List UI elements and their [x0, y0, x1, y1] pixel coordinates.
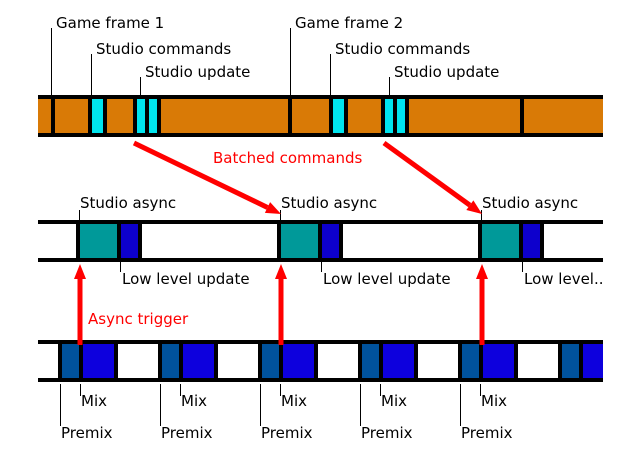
diagram-canvas: Game frame 1Studio commandsStudio update… [0, 0, 640, 467]
segment-divider [88, 99, 92, 133]
segment-lowlvl [523, 224, 540, 258]
game-thread-track [38, 95, 603, 137]
leader-line-low-level-update-2 [522, 262, 523, 272]
segment-frame [292, 99, 329, 133]
segment-divider [344, 99, 348, 133]
segment-divider [478, 224, 482, 258]
segment-divider [379, 344, 383, 378]
segment-divider [117, 224, 121, 258]
segment-mix [183, 344, 214, 378]
segment-divider [138, 224, 142, 258]
label-premix-1: Premix [161, 426, 213, 441]
segment-premix [262, 344, 279, 378]
async-trigger-annotation: Async trigger [88, 312, 188, 327]
label-studio-async-2: Studio async [482, 196, 578, 211]
leader-line-3 [290, 28, 291, 95]
segment-divider [329, 99, 333, 133]
leader-line-4 [330, 54, 331, 95]
segment-premix [462, 344, 479, 378]
segment-divider [279, 344, 283, 378]
leader-line-mix-4 [480, 384, 481, 396]
segment-divider [318, 224, 322, 258]
segment-premix [162, 344, 179, 378]
segment-async [482, 224, 520, 258]
label-studio-commands-1: Studio commands [96, 42, 231, 57]
label-low-level-update-1: Low level update [323, 272, 451, 287]
segment-divider [479, 344, 483, 378]
batched-commands-annotation: Batched commands [213, 151, 362, 166]
leader-line-mix-3 [380, 384, 381, 396]
segment-lowlvl [322, 224, 339, 258]
segment-divider [519, 224, 523, 258]
leader-line-studio-async-1 [280, 210, 281, 220]
segment-divider [258, 344, 262, 378]
segment-command [385, 99, 393, 133]
leader-line-low-level-update-0 [120, 262, 121, 272]
segment-frame [348, 99, 381, 133]
segment-divider [103, 99, 107, 133]
segment-command [397, 99, 405, 133]
segment-divider [579, 344, 583, 378]
segment-frame [524, 99, 603, 133]
label-studio-commands-4: Studio commands [335, 42, 470, 57]
segment-mix [583, 344, 603, 378]
segment-async [80, 224, 118, 258]
segment-mix [83, 344, 114, 378]
segment-command [333, 99, 344, 133]
segment-divider [540, 224, 544, 258]
label-studio-update-5: Studio update [394, 65, 499, 80]
leader-line-mix-2 [280, 384, 281, 396]
segment-divider [58, 344, 62, 378]
segment-divider [214, 344, 218, 378]
segment-divider [158, 344, 162, 378]
studio-thread-track [38, 220, 603, 262]
label-game-frame-1-0: Game frame 1 [56, 16, 164, 31]
segment-divider [114, 344, 118, 378]
segment-divider [393, 99, 397, 133]
leader-line-studio-async-2 [481, 210, 482, 220]
leader-line-premix-0 [60, 384, 61, 426]
segment-divider [79, 344, 83, 378]
leader-line-low-level-update-1 [321, 262, 322, 272]
segment-command [137, 99, 145, 133]
segment-frame [38, 99, 51, 133]
label-game-frame-2-3: Game frame 2 [295, 16, 403, 31]
leader-line-mix-0 [80, 384, 81, 396]
segment-divider [314, 344, 318, 378]
label-mix-3: Mix [381, 394, 407, 409]
async-trigger-arrow-1-head [275, 264, 287, 279]
label-premix-2: Premix [261, 426, 313, 441]
label-studio-async-0: Studio async [80, 196, 176, 211]
leader-line-2 [140, 77, 141, 95]
segment-mix [283, 344, 314, 378]
label-studio-async-1: Studio async [281, 196, 377, 211]
mixer-thread-track [38, 340, 603, 382]
segment-frame [107, 99, 133, 133]
leader-line-premix-1 [160, 384, 161, 426]
async-trigger-arrow-2-head [476, 264, 488, 279]
leader-line-0 [51, 28, 52, 95]
segment-divider [405, 99, 409, 133]
leader-line-1 [91, 54, 92, 95]
segment-async [281, 224, 319, 258]
segment-divider [458, 344, 462, 378]
segment-divider [76, 224, 80, 258]
segment-divider [157, 99, 161, 133]
segment-frame [409, 99, 520, 133]
label-mix-4: Mix [481, 394, 507, 409]
label-premix-4: Premix [461, 426, 513, 441]
label-studio-update-2: Studio update [145, 65, 250, 80]
segment-divider [133, 99, 137, 133]
segment-divider [145, 99, 149, 133]
label-mix-2: Mix [281, 394, 307, 409]
segment-premix [62, 344, 79, 378]
leader-line-5 [389, 77, 390, 95]
segment-lowlvl [121, 224, 138, 258]
segment-divider [520, 99, 524, 133]
label-premix-3: Premix [361, 426, 413, 441]
label-mix-0: Mix [81, 394, 107, 409]
label-low-level-update-2: Low level.. [524, 272, 604, 287]
leader-line-premix-2 [260, 384, 261, 426]
segment-divider [414, 344, 418, 378]
batched-commands-arrow-0-head [265, 202, 281, 214]
segment-divider [358, 344, 362, 378]
segment-command [149, 99, 157, 133]
label-mix-1: Mix [181, 394, 207, 409]
leader-line-studio-async-0 [79, 210, 80, 220]
segment-divider [51, 99, 55, 133]
segment-divider [288, 99, 292, 133]
label-low-level-update-0: Low level update [122, 272, 250, 287]
segment-divider [558, 344, 562, 378]
label-premix-0: Premix [61, 426, 113, 441]
segment-command [92, 99, 103, 133]
segment-premix [362, 344, 379, 378]
segment-premix [562, 344, 579, 378]
leader-line-premix-3 [360, 384, 361, 426]
segment-frame [161, 99, 288, 133]
segment-divider [514, 344, 518, 378]
segment-frame [55, 99, 88, 133]
leader-line-mix-1 [180, 384, 181, 396]
segment-mix [483, 344, 514, 378]
batched-commands-arrow-1-shaft [384, 143, 470, 205]
segment-divider [381, 99, 385, 133]
segment-divider [179, 344, 183, 378]
segment-divider [277, 224, 281, 258]
batched-commands-arrow-1-head [466, 200, 482, 214]
segment-mix [383, 344, 414, 378]
leader-line-premix-4 [460, 384, 461, 426]
async-trigger-arrow-0-head [74, 264, 86, 279]
segment-divider [339, 224, 343, 258]
